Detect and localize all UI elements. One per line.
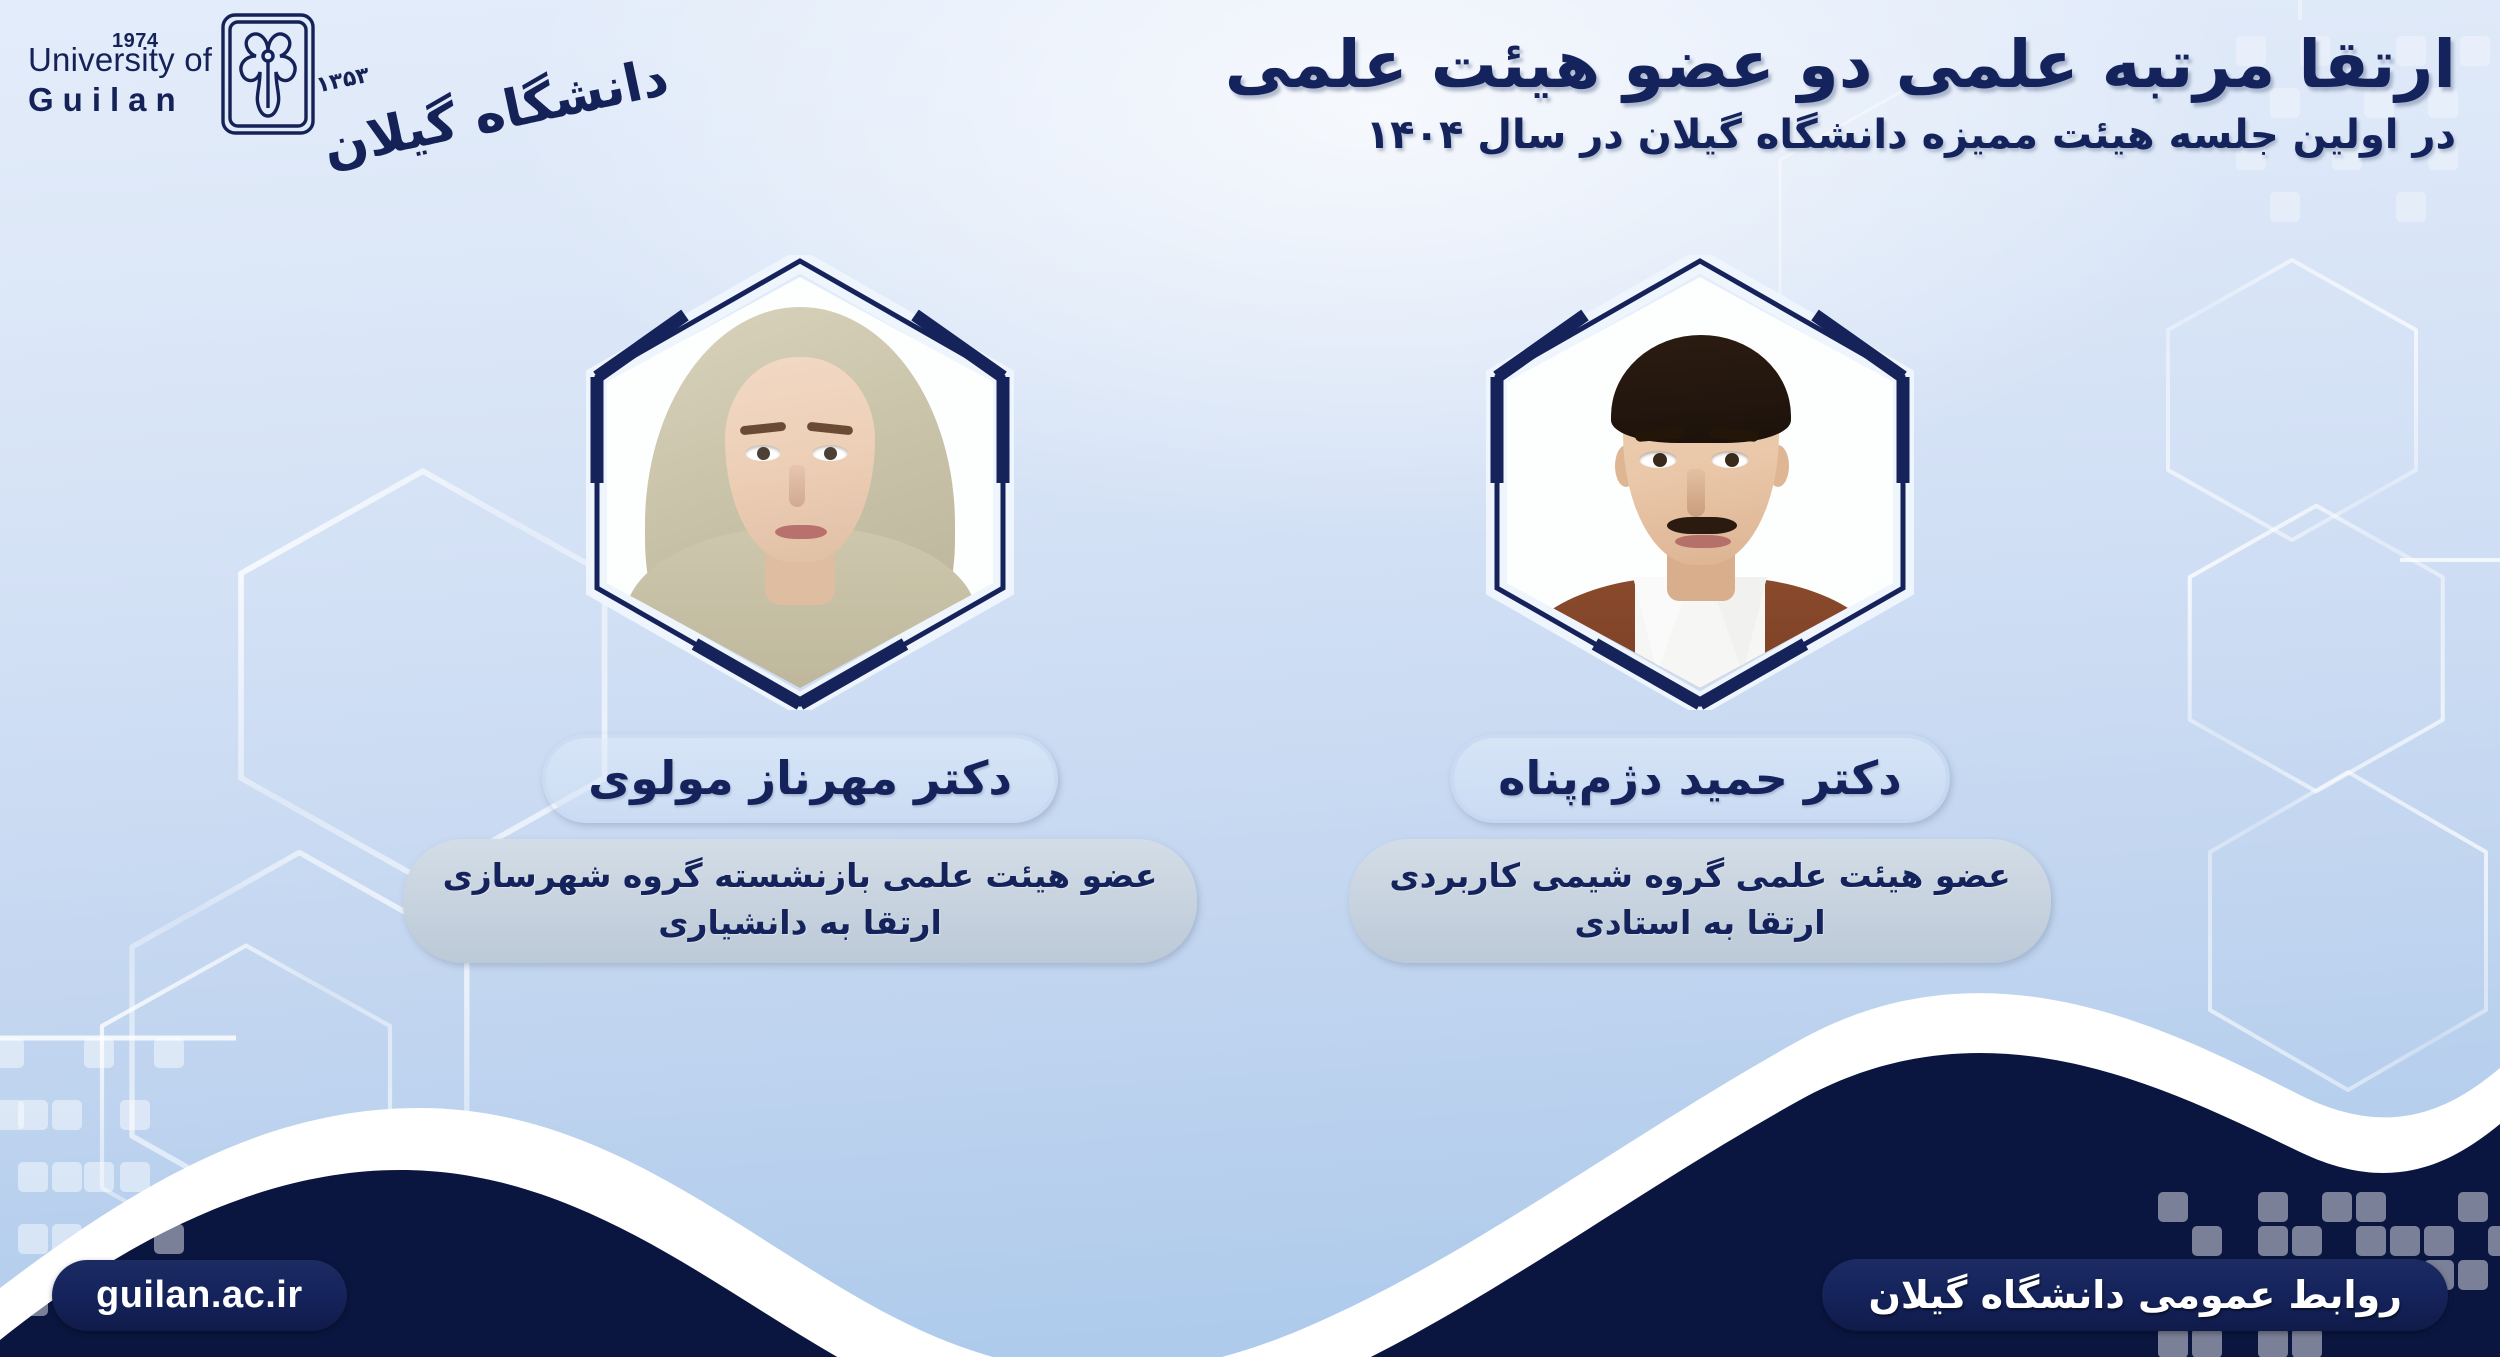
faculty-affiliation: عضو هیئت علمی گروه شیمی کاربردی — [1389, 853, 2010, 900]
avatar — [585, 255, 1015, 710]
faculty-cards: دکتر حمید دژم‌پناه عضو هیئت علمی گروه شی… — [0, 255, 2500, 963]
logo-line-guilan: Guilan — [28, 83, 212, 117]
faculty-name: دکتر حمید دژم‌پناه — [1450, 734, 1950, 823]
faculty-affiliation: عضو هیئت علمی بازنشسته گروه شهرسازی — [443, 853, 1158, 900]
guilan-university-emblem-icon — [220, 12, 316, 140]
faculty-name: دکتر مهرناز مولوی — [542, 734, 1058, 823]
avatar — [1485, 255, 1915, 710]
page-subtitle: در اولین جلسه هیئت ممیزه دانشگاه گیلان د… — [1136, 110, 2456, 160]
university-logo: 1974 University of Guilan ۱۳۵۳ دانشگاه گ… — [28, 8, 498, 143]
logo-year-persian: ۱۳۵۳ — [314, 62, 372, 98]
website-badge[interactable]: guilan.ac.ir — [52, 1260, 347, 1331]
faculty-card: دکتر مهرناز مولوی عضو هیئت علمی بازنشسته… — [470, 255, 1130, 963]
page-title: ارتقا مرتبه علمی دو عضو هیئت علمی — [1136, 26, 2456, 104]
faculty-details: عضو هیئت علمی بازنشسته گروه شهرسازی ارتق… — [403, 839, 1198, 963]
faculty-promotion: ارتقا به دانشیاری — [658, 900, 942, 947]
logo-year-gregorian: 1974 — [112, 31, 159, 51]
public-relations-badge: روابط عمومی دانشگاه گیلان — [1822, 1259, 2448, 1331]
poster-canvas: 1974 University of Guilan ۱۳۵۳ دانشگاه گ… — [0, 0, 2500, 1357]
logo-persian-name: دانشگاه گیلان — [319, 51, 673, 175]
faculty-promotion: ارتقا به استادی — [1574, 900, 1825, 947]
header-text-block: ارتقا مرتبه علمی دو عضو هیئت علمی در اول… — [1136, 26, 2456, 160]
faculty-card: دکتر حمید دژم‌پناه عضو هیئت علمی گروه شی… — [1370, 255, 2030, 963]
logo-english-text: 1974 University of Guilan — [28, 35, 212, 116]
faculty-details: عضو هیئت علمی گروه شیمی کاربردی ارتقا به… — [1349, 839, 2050, 963]
logo-persian-text: ۱۳۵۳ دانشگاه گیلان — [322, 50, 673, 102]
